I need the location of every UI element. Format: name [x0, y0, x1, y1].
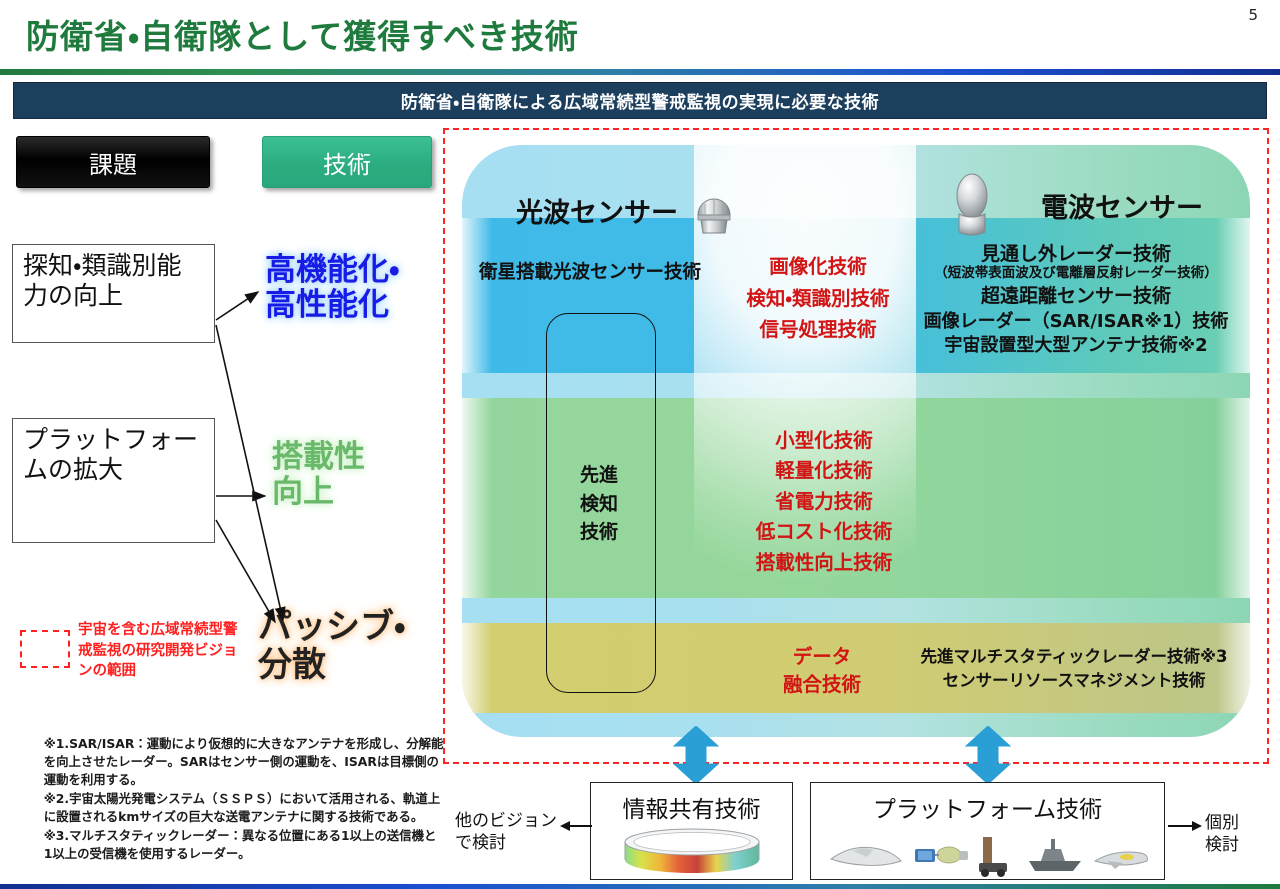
bottom-divider-rule — [0, 884, 1280, 889]
vision-scope-legend-swatch — [20, 630, 70, 668]
note-individual-review: 個別 検討 — [1205, 812, 1261, 856]
rf-tech-oth-radar: 見通し外レーダー技術 — [902, 243, 1250, 266]
rf-column-high-performance: 見通し外レーダー技術 （短波帯表面波及び電離層反射レーダー技術） 超遠距離センサ… — [902, 243, 1250, 357]
tech-imaging: 画像化技術 — [730, 251, 906, 283]
platform-technology-box-label: プラットフォーム技術 — [811, 790, 1164, 824]
tech-data: データ — [734, 643, 910, 671]
tech-detection-classification: 検知・類識別技術 — [730, 283, 906, 315]
rf-tech-oth-radar-sub: （短波帯表面波及び電離層反射レーダー技術） — [902, 265, 1250, 281]
footnote-2: ※2.宇宙太陽光発電システム（ＳＳＰＳ）において活用される、軌道上に設置されるk… — [14, 790, 444, 826]
legend-chip-issue: 課題 — [16, 136, 210, 188]
center-column-high-performance: 画像化技術 検知・類識別技術 信号処理技術 — [730, 251, 906, 346]
info-sharing-box: 情報共有技術 — [590, 782, 793, 880]
subtitle-banner-label: 防衛省・自衛隊による広域常続型警戒監視の実現に必要な技術 — [401, 88, 879, 113]
arrow-right-to-individual-review — [1168, 818, 1202, 834]
tech-miniaturization: 小型化技術 — [730, 426, 918, 456]
tech-data-fusion: 融合技術 — [734, 671, 910, 699]
arrow-left-to-other-vision — [560, 818, 592, 834]
arrow-issue1-to-goal1 — [216, 292, 258, 320]
rf-sensor-heading: 電波センサー — [1002, 193, 1242, 226]
title-divider-rule — [0, 69, 1280, 75]
advanced-detection-tech: 先進 検知 技術 — [554, 461, 644, 547]
double-arrow-info-sharing-icon — [670, 726, 722, 784]
center-column-passive-distributed: データ 融合技術 — [734, 643, 910, 698]
legend-chip-technology: 技術 — [262, 136, 432, 188]
tech-goal-passive-distributed: パッシブ・ 分散 — [258, 608, 406, 684]
ring-spectrum-icon — [617, 826, 767, 878]
rf-tech-sensor-resource-mgmt: センサーリソースマネジメント技術 — [898, 669, 1250, 693]
double-arrow-platform-icon — [962, 726, 1014, 784]
rf-column-passive-distributed: 先進マルチスタティックレーダー技術※3 センサーリソースマネジメント技術 — [898, 645, 1250, 693]
issue-box-platform: プラットフォームの拡大 — [12, 418, 215, 543]
radio-dome-icon — [949, 170, 995, 240]
legend-chip-issue-label: 課題 — [89, 145, 137, 180]
center-column-mountability: 小型化技術 軽量化技術 省電力技術 低コスト化技術 搭載性向上技術 — [730, 426, 918, 578]
footnotes: ※1.SAR/ISAR：運動により仮想的に大きなアンテナを形成し、分解能を向上さ… — [14, 735, 444, 864]
rf-tech-ultra-long-range: 超遠距離センサー技術 — [902, 285, 1250, 308]
optical-sensor-heading: 光波センサー — [482, 198, 712, 231]
page-number: 5 — [1248, 6, 1258, 24]
rf-tech-imaging-radar: 画像レーダー（SAR/ISAR※1）技術 — [902, 311, 1250, 333]
tech-goal-high-performance: 高機能化・ 高性能化 — [265, 253, 400, 322]
rf-tech-space-large-antenna: 宇宙設置型大型アンテナ技術※2 — [902, 335, 1250, 357]
footnote-3: ※3.マルチスタティックレーダー：異なる位置にある1以上の送信機と1以上の受信機… — [14, 827, 444, 863]
tech-signal-processing: 信号処理技術 — [730, 314, 906, 346]
optical-satellite-sensor-tech: 衛星搭載光波センサー技術 — [470, 262, 710, 285]
legend-chip-technology-label: 技術 — [323, 145, 371, 180]
platform-technology-box: プラットフォーム技術 — [810, 782, 1165, 880]
subtitle-banner: 防衛省・自衛隊による広域常続型警戒監視の実現に必要な技術 — [13, 82, 1267, 119]
issue-box-detection: 探知・類識別能力の向上 — [12, 244, 215, 343]
tech-goal-mountability: 搭載性 向上 — [272, 440, 365, 509]
rf-tech-multistatic-radar: 先進マルチスタティックレーダー技術※3 — [898, 645, 1250, 669]
tech-power-saving: 省電力技術 — [730, 487, 918, 517]
tech-mountability-improvement: 搭載性向上技術 — [730, 548, 918, 578]
tech-low-cost: 低コスト化技術 — [730, 517, 918, 547]
slide-root: 5 防衛省・自衛隊として獲得すべき技術 防衛省・自衛隊による広域常続型警戒監視の… — [0, 0, 1280, 889]
info-sharing-box-label: 情報共有技術 — [591, 790, 792, 824]
tech-lightweight: 軽量化技術 — [730, 456, 918, 486]
platform-vehicles-icon — [823, 827, 1153, 879]
vision-scope-legend-label: 宇宙を含む広域常続型警戒監視の研究開発ビジョンの範囲 — [78, 620, 248, 682]
footnote-1: ※1.SAR/ISAR：運動により仮想的に大きなアンテナを形成し、分解能を向上さ… — [14, 735, 444, 789]
page-title: 防衛省・自衛隊として獲得すべき技術 — [26, 10, 579, 58]
technology-matrix-panel: 光波センサー 電波センサー 衛星搭載光波センサー技術 先進 検知 技術 画像化技… — [462, 145, 1250, 737]
note-other-vision: 他のビジョンで検討 — [455, 810, 561, 854]
